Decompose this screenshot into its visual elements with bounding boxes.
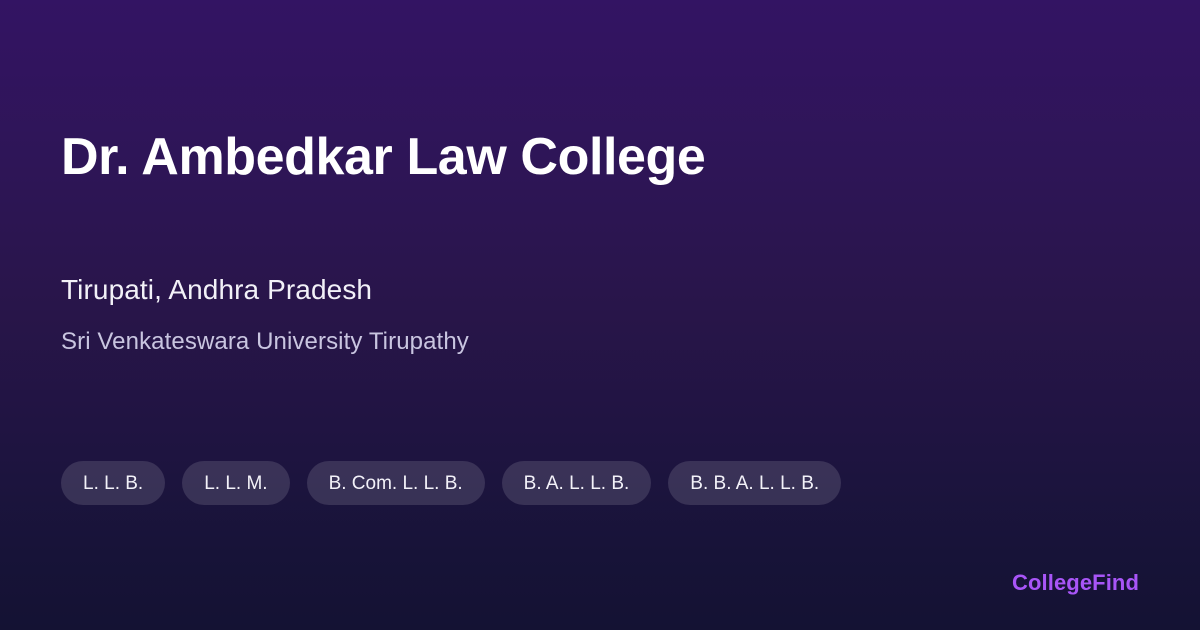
college-location: Tirupati, Andhra Pradesh	[61, 272, 372, 308]
page-title: Dr. Ambedkar Law College	[61, 126, 705, 188]
og-share-card: Dr. Ambedkar Law College Tirupati, Andhr…	[0, 0, 1200, 630]
college-affiliation: Sri Venkateswara University Tirupathy	[61, 326, 469, 358]
course-tag: L. L. M.	[182, 461, 289, 505]
course-tag: B. Com. L. L. B.	[307, 461, 485, 505]
brand-wordmark: CollegeFind	[1012, 569, 1139, 597]
course-tag: L. L. B.	[61, 461, 165, 505]
course-tag: B. B. A. L. L. B.	[668, 461, 841, 505]
course-tag-list: L. L. B. L. L. M. B. Com. L. L. B. B. A.…	[61, 461, 841, 505]
card-content: Dr. Ambedkar Law College Tirupati, Andhr…	[61, 0, 1139, 630]
course-tag: B. A. L. L. B.	[502, 461, 652, 505]
